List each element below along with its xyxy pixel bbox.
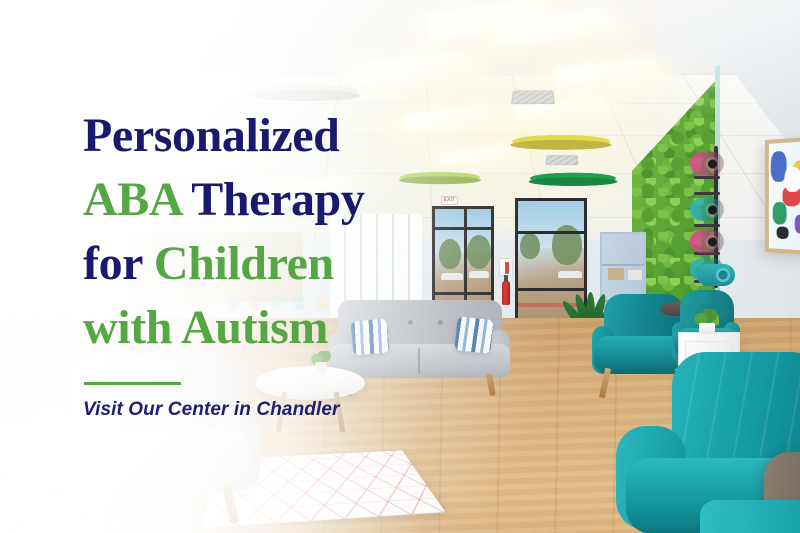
headline-line-3: for Children bbox=[83, 232, 413, 296]
headline-word-for: for bbox=[83, 237, 142, 290]
headline-word-personalized: Personalized bbox=[83, 109, 339, 162]
hero-text-block: Personalized ABA Therapy for Children wi… bbox=[83, 104, 413, 421]
green-divider-rule bbox=[84, 382, 181, 385]
hero-banner: EXIT bbox=[0, 0, 800, 533]
subtitle: Visit Our Center in Chandler bbox=[83, 399, 413, 421]
headline-word-children: Children bbox=[154, 237, 334, 290]
headline-words-with-autism: with Autism bbox=[83, 301, 328, 354]
headline-word-aba: ABA bbox=[83, 173, 181, 226]
page-title: Personalized ABA Therapy for Children wi… bbox=[83, 104, 413, 360]
headline-line-1: Personalized bbox=[83, 104, 413, 168]
headline-line-4: with Autism bbox=[83, 296, 413, 360]
headline-word-therapy: Therapy bbox=[191, 173, 364, 226]
headline-line-2: ABA Therapy bbox=[83, 168, 413, 232]
